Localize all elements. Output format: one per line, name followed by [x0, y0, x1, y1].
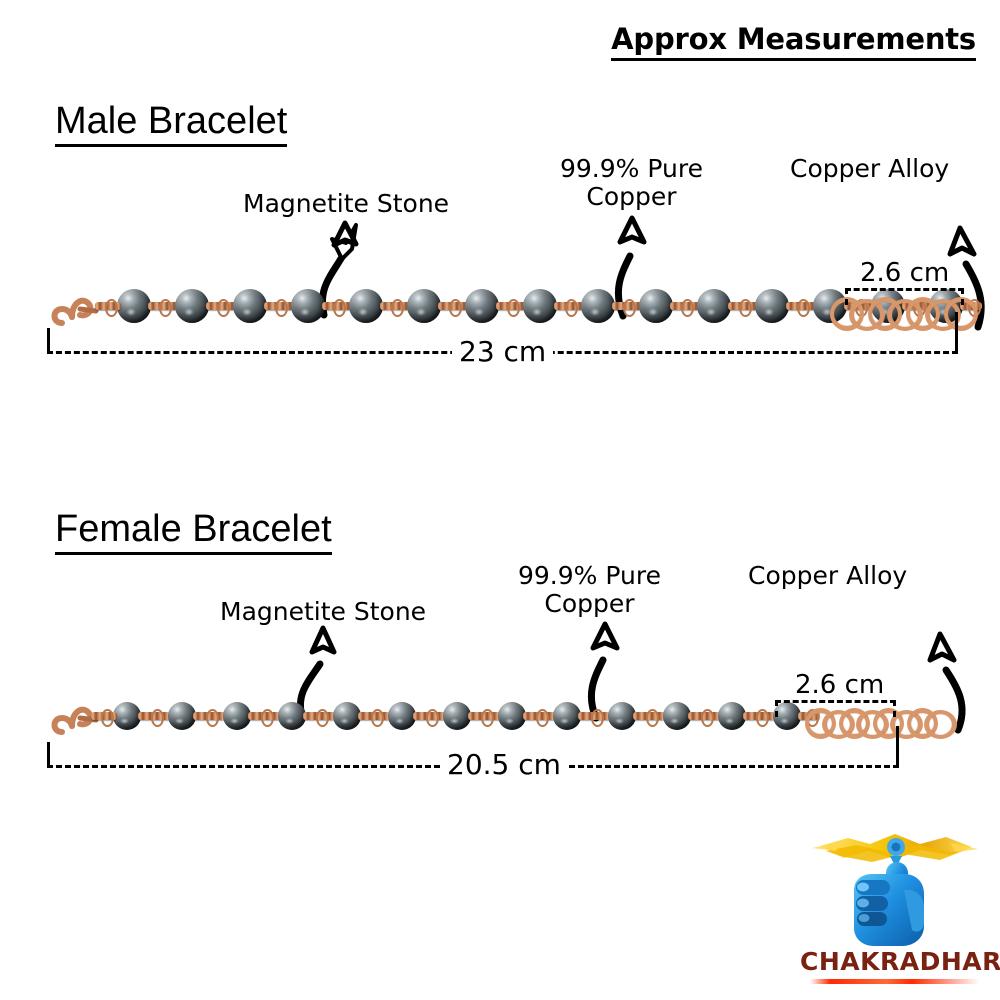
male-callout-pure-copper-line1: 99.9% Pure: [560, 155, 703, 183]
bead: [223, 702, 251, 730]
bead: [755, 289, 789, 323]
male-total-dimension-label: 23 cm: [452, 335, 553, 368]
copper-wire-link: [468, 712, 501, 720]
male-callout-pure-copper-line2: Copper: [560, 183, 703, 211]
logo-brand-text: CHAKRADHARI: [800, 947, 990, 976]
female-callout-pure-copper: 99.9% Pure Copper: [518, 562, 661, 618]
male-dimension-tick-right: [955, 312, 958, 354]
bead: [349, 289, 383, 323]
bead: [498, 702, 526, 730]
copper-wire-link: [523, 712, 556, 720]
copper-wire-link: [670, 302, 700, 310]
bead: [388, 702, 416, 730]
female-bracelet-heading: Female Bracelet: [55, 508, 332, 555]
copper-wire-link: [248, 712, 281, 720]
female-clasp-hook: [50, 700, 102, 740]
copper-wire-link: [413, 712, 446, 720]
copper-wire-link: [193, 712, 226, 720]
bead: [113, 702, 141, 730]
approx-measurements-title: Approx Measurements: [611, 22, 976, 61]
male-extension-bracket: [845, 288, 964, 305]
hand-shape: [854, 862, 924, 946]
bead: [718, 702, 746, 730]
copper-wire-link: [578, 712, 611, 720]
bead: [175, 289, 209, 323]
bead: [333, 702, 361, 730]
copper-wire-link: [264, 302, 294, 310]
bead: [233, 289, 267, 323]
copper-wire-link: [438, 302, 468, 310]
male-clasp-hook: [50, 289, 102, 331]
bead: [663, 702, 691, 730]
copper-wire-link: [148, 302, 178, 310]
logo-underline-rule: [810, 979, 980, 984]
bead: [697, 289, 731, 323]
female-dimension-tick-right: [896, 726, 899, 768]
female-extension-dimension-label: 2.6 cm: [790, 670, 889, 700]
bead: [639, 289, 673, 323]
bead: [581, 289, 615, 323]
female-total-dimension-label: 20.5 cm: [440, 748, 568, 781]
female-extension-bracket: [775, 700, 896, 717]
chain-link: [924, 710, 957, 739]
copper-wire-link: [786, 302, 816, 310]
bead: [443, 702, 471, 730]
bead: [168, 702, 196, 730]
copper-wire-link: [303, 712, 336, 720]
male-callout-pure-copper: 99.9% Pure Copper: [560, 155, 703, 211]
copper-wire-link: [95, 302, 121, 310]
female-callout-copper-alloy: Copper Alloy: [748, 562, 907, 590]
copper-wire-link: [728, 302, 758, 310]
copper-wire-link: [322, 302, 352, 310]
bead: [553, 702, 581, 730]
female-callout-pure-copper-line2: Copper: [518, 590, 661, 618]
copper-wire-link: [554, 302, 584, 310]
copper-wire-link: [206, 302, 236, 310]
male-callout-copper-alloy: Copper Alloy: [790, 155, 949, 183]
copper-wire-link: [138, 712, 171, 720]
bead: [117, 289, 151, 323]
bead: [465, 289, 499, 323]
male-callout-magnetite-stone: Magnetite Stone: [243, 190, 449, 218]
bead: [291, 289, 325, 323]
chakradhari-logo: CHAKRADHARI: [800, 818, 990, 990]
copper-wire-link: [612, 302, 642, 310]
bead: [523, 289, 557, 323]
copper-wire-link: [688, 712, 721, 720]
copper-wire-link: [496, 302, 526, 310]
male-extension-dimension-label: 2.6 cm: [855, 258, 954, 288]
bead: [278, 702, 306, 730]
copper-wire-link: [380, 302, 410, 310]
bead: [608, 702, 636, 730]
copper-wire-link: [91, 712, 117, 720]
copper-wire-link: [633, 712, 666, 720]
male-bracelet-heading: Male Bracelet: [55, 100, 287, 147]
bead: [407, 289, 441, 323]
copper-wire-link: [743, 712, 776, 720]
hand-with-chakra-icon: [800, 818, 990, 948]
copper-wire-link: [358, 712, 391, 720]
product-measurement-infographic: Approx Measurements Male Bracelet Magnet…: [0, 0, 1000, 1000]
female-callout-pure-copper-line1: 99.9% Pure: [518, 562, 661, 590]
